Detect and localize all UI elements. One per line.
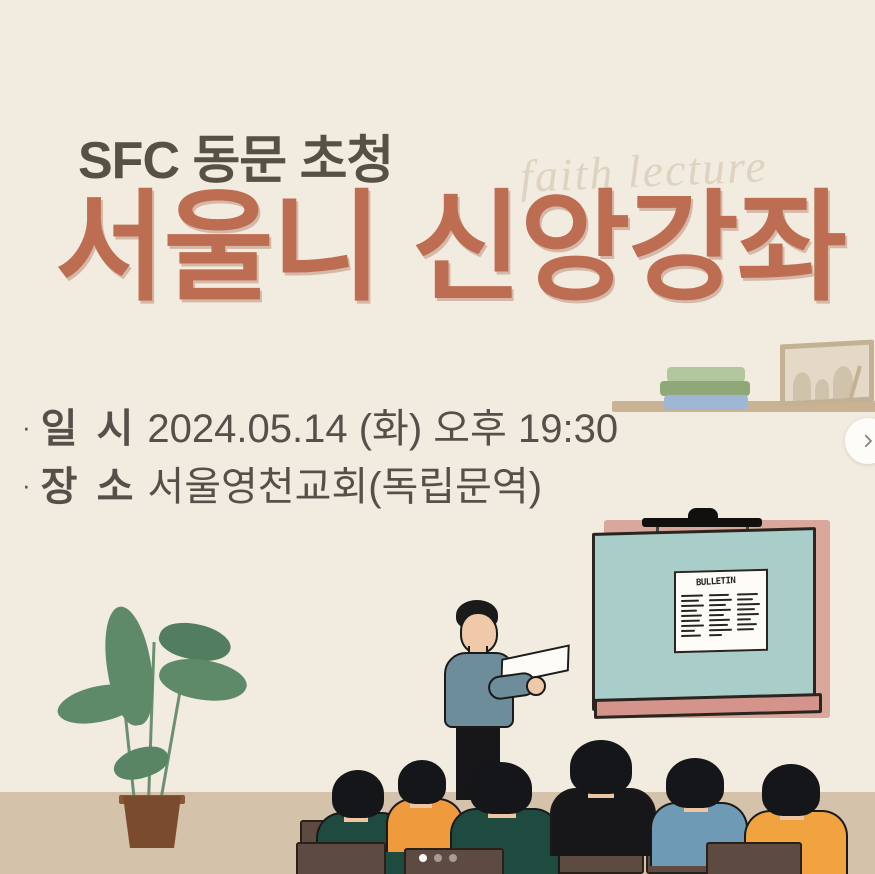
detail-label-date: 일 시 bbox=[41, 400, 138, 458]
audience-hair bbox=[666, 758, 724, 808]
lamp-bar bbox=[642, 518, 762, 527]
audience-hair bbox=[332, 770, 384, 818]
presenter-hand bbox=[526, 676, 546, 696]
wall-shelf bbox=[612, 348, 875, 412]
bullet-icon: · bbox=[22, 409, 31, 447]
book-middle bbox=[660, 381, 750, 396]
detail-row-date: · 일 시 2024.05.14 (화) 오후 19:30 bbox=[22, 400, 618, 458]
poster-text-column-1 bbox=[681, 594, 705, 640]
audience-top bbox=[550, 788, 656, 856]
detail-row-venue: · 장 소 서울영천교회(독립문역) bbox=[22, 458, 618, 516]
carousel-dots[interactable] bbox=[0, 854, 875, 862]
board-poster: BULLETIN bbox=[674, 569, 768, 653]
book-top bbox=[667, 367, 745, 382]
audience-hair bbox=[398, 760, 446, 804]
carousel-dot-2[interactable] bbox=[434, 854, 442, 862]
carousel-dot-3[interactable] bbox=[449, 854, 457, 862]
audience-hair bbox=[470, 762, 532, 814]
carousel-dot-1[interactable] bbox=[419, 854, 427, 862]
bullet-icon: · bbox=[22, 467, 31, 505]
audience-hair bbox=[762, 764, 820, 816]
plant-leaf-3 bbox=[156, 651, 251, 710]
audience-group bbox=[0, 724, 875, 874]
detail-value-date: 2024.05.14 (화) 오후 19:30 bbox=[147, 400, 618, 458]
audience-hair bbox=[570, 740, 632, 794]
audience-member-4 bbox=[548, 734, 654, 874]
chevron-right-icon bbox=[859, 432, 875, 450]
poster-details: · 일 시 2024.05.14 (화) 오후 19:30 · 장 소 서울영천… bbox=[22, 400, 618, 516]
poster-text-column-2 bbox=[709, 594, 733, 640]
book-bottom bbox=[664, 395, 748, 410]
poster-slide: BULLETIN bbox=[0, 0, 875, 874]
detail-value-venue: 서울영천교회(독립문역) bbox=[147, 458, 542, 516]
detail-label-venue: 장 소 bbox=[41, 458, 138, 516]
photo-silhouette-left bbox=[793, 372, 811, 401]
photo-silhouette-center bbox=[815, 379, 829, 400]
poster-title: 서울니 신앙강좌 bbox=[55, 188, 845, 308]
carousel-next-button[interactable] bbox=[845, 418, 875, 464]
poster-text-column-3 bbox=[737, 593, 761, 634]
presentation-board: BULLETIN bbox=[592, 508, 824, 720]
board-lamp bbox=[642, 508, 762, 530]
board-poster-heading: BULLETIN bbox=[696, 576, 736, 588]
